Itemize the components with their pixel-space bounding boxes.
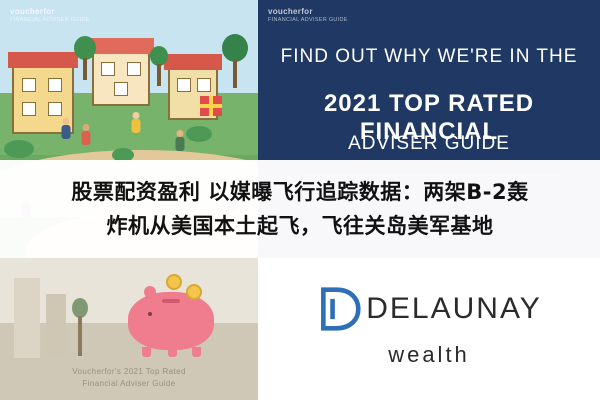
watermark-sub-text: FINANCIAL ADVISER GUIDE [268,16,348,24]
brand-tagline-text: wealth [258,342,600,368]
building-shape [14,278,40,358]
brand-logo: DELAUNAY [258,286,600,332]
tree-trunk [157,64,161,86]
house-roof [164,54,222,70]
tree-trunk [233,60,237,88]
watermark-sub-text: FINANCIAL ADVISER GUIDE [10,16,90,24]
headline-overlay: 股票配资盈利 以媒曝飞行追踪数据：两架B-2轰 炸机从美国本土起飞，飞往关岛美军… [0,160,600,258]
bush-shape [186,126,212,142]
tree-crown [74,36,96,60]
piggy-ear [144,286,156,298]
watermark-main-text: voucherfor [268,8,348,16]
piggy-leg [168,347,177,357]
person-body [176,137,185,151]
panel-delaunay-wealth-logo: DELAUNAY wealth [258,258,600,400]
caption-line-1: Voucherfor's 2021 Top Rated [0,366,258,378]
bush-shape [4,140,34,158]
piggy-bank-icon [128,292,214,350]
person-head [63,118,70,125]
coin-icon [166,274,182,290]
house-center [92,50,150,106]
tree-icon [222,34,248,90]
panel-piggy-bank-illustration: Voucherfor's 2021 Top Rated Financial Ad… [0,258,258,400]
tree-crown [150,46,168,66]
person-body [132,119,141,133]
headline-line-1: 股票配资盈利 以媒曝飞行追踪数据：两架B-2轰 [71,175,528,209]
tree-trunk [83,58,87,80]
person-body [82,131,91,145]
watermark-voucherfor: voucherfor FINANCIAL ADVISER GUIDE [268,8,348,24]
house-window [114,82,128,96]
person-head [177,130,184,137]
tree-crown [222,34,248,62]
building-shape [46,294,66,358]
piggy-coin-slot [162,299,180,303]
piggy-leg [192,347,201,357]
piggy-eye [148,312,152,316]
person-figure [80,124,92,148]
house-window [127,62,141,76]
house-window [101,62,115,76]
ad-headline-line-3: ADVISER GUIDE [258,133,600,155]
person-head [133,112,140,119]
house-window [177,78,191,92]
person-figure [174,130,186,154]
house-window [22,102,36,116]
house-window [48,102,62,116]
caption-line-2: Financial Adviser Guide [0,378,258,390]
watermark-main-text: voucherfor [10,8,90,16]
ad-headline-line-1: FIND OUT WHY WE'RE IN THE [258,46,600,68]
gift-ribbon-horizontal [200,104,222,108]
screenshot-root: voucherfor FINANCIAL ADVISER GUIDE FIND … [0,0,600,400]
coin-icon [186,284,202,300]
person-figure [130,112,142,136]
piggy-leg [142,347,151,357]
d-monogram-icon [316,286,362,332]
person-head [83,124,90,131]
house-roof [8,52,78,68]
house-roof [88,38,154,54]
person-body [62,125,71,139]
person-figure [60,118,72,142]
brand-name-text: DELAUNAY [366,292,542,326]
tree-icon [150,46,168,88]
gift-box-icon [200,96,222,116]
house-window [197,78,211,92]
panel-caption: Voucherfor's 2021 Top Rated Financial Ad… [0,366,258,390]
tree-icon [72,298,88,358]
headline-line-2: 炸机从美国本土起飞，飞往关岛美军基地 [107,209,494,243]
tree-icon [74,36,96,82]
watermark-voucherfor: voucherfor FINANCIAL ADVISER GUIDE [10,8,90,24]
house-window [22,78,36,92]
house-window [48,78,62,92]
